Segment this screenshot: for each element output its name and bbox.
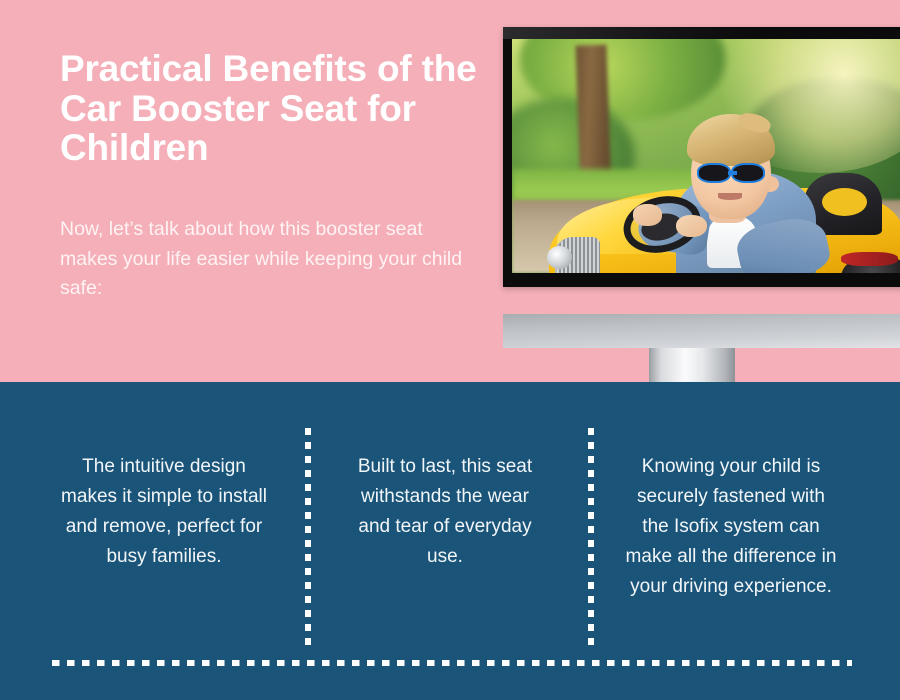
hero-section: Practical Benefits of the Car Booster Se… — [0, 0, 900, 382]
toy-car-headlight — [547, 246, 572, 270]
benefit-column-1: The intuitive design makes it simple to … — [60, 452, 268, 572]
monitor-chin — [503, 314, 900, 348]
monitor-stand-neck — [649, 348, 735, 382]
boy-smile — [718, 193, 743, 199]
toy-car-red-trim — [841, 252, 899, 266]
boy-right-hand — [676, 215, 707, 238]
boy-left-hand — [633, 204, 662, 225]
benefit-column-3: Knowing your child is securely fastened … — [625, 452, 837, 602]
vertical-dotted-divider-1 — [305, 428, 311, 650]
vertical-dotted-divider-2 — [588, 428, 594, 650]
sunglasses-bridge — [728, 171, 737, 175]
hero-subtitle: Now, let’s talk about how this booster s… — [60, 215, 475, 304]
monitor-screen — [512, 36, 900, 273]
page-title: Practical Benefits of the Car Booster Se… — [60, 49, 480, 168]
sunglasses-left-lens — [697, 163, 731, 183]
monitor-illustration — [503, 27, 900, 287]
horizontal-dotted-divider — [52, 660, 852, 666]
toy-car-seat-gap — [822, 188, 867, 216]
benefit-column-2: Built to last, this seat withstands the … — [345, 452, 545, 572]
monitor-bezel — [503, 27, 900, 287]
